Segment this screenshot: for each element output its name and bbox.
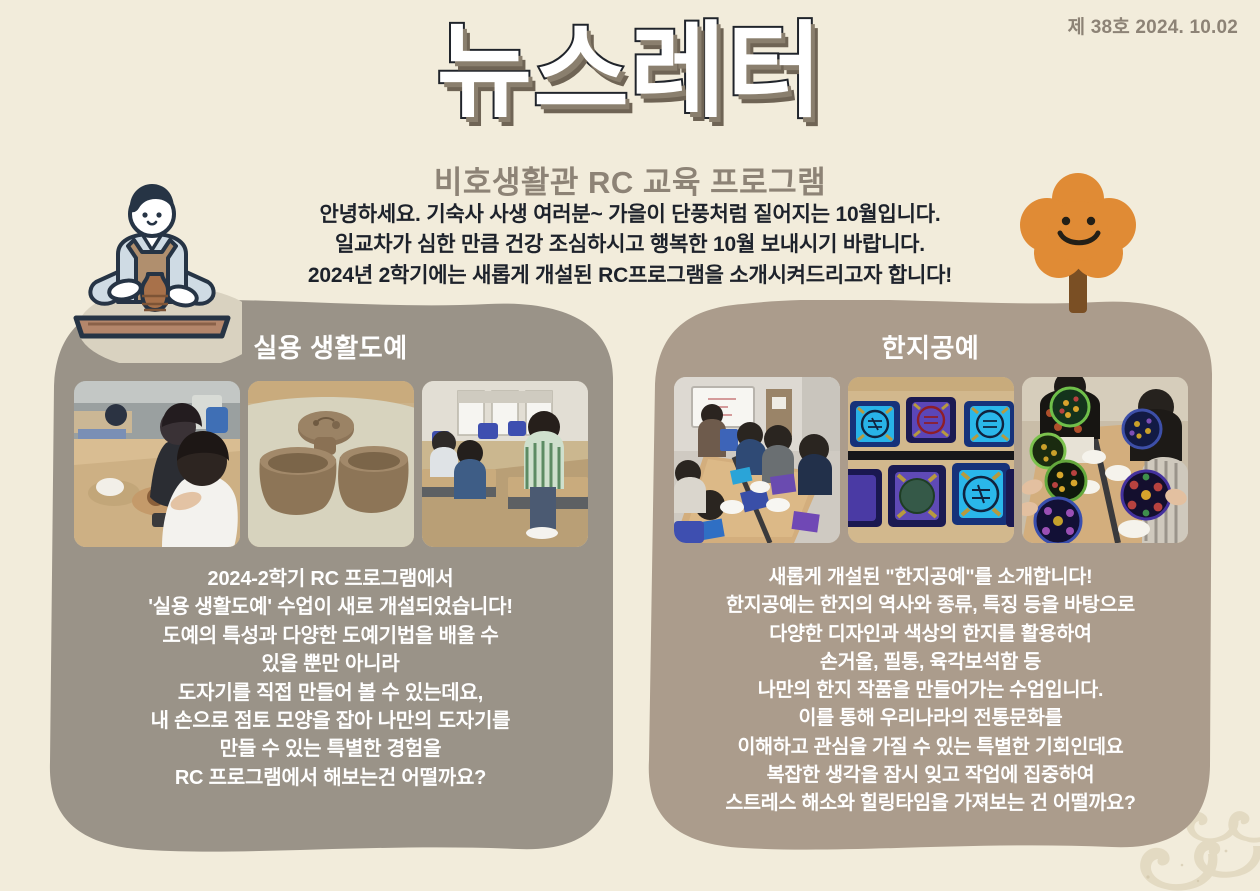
photo-finished-clay-bowls[interactable] <box>248 381 414 547</box>
photo-row-pottery <box>48 381 613 547</box>
intro-paragraph: 안녕하세요. 기숙사 사생 여러분~ 가을이 단풍처럼 짙어지는 10월입니다.… <box>0 200 1260 291</box>
card-body-pottery: 2024-2학기 RC 프로그램에서 '실용 생활도예' 수업이 새로 개설되었… <box>48 565 613 792</box>
photo-hanji-square-trays[interactable] <box>848 377 1014 543</box>
issue-date: 제 38호 2024. 10.02 <box>1068 12 1238 39</box>
pottery-line-6: 내 손으로 점토 모양을 잡아 나만의 도자기를 <box>62 707 599 735</box>
program-cards: 실용 생활도예 <box>0 300 1260 870</box>
pottery-line-1: 2024-2학기 RC 프로그램에서 <box>62 565 599 593</box>
subtitle: 비호생활관 RC 교육 프로그램 <box>0 157 1260 202</box>
hanji-line-9: 스트레스 해소와 힐링타임을 가져보는 건 어떨까요? <box>662 789 1199 817</box>
intro-line-3: 2024년 2학기에는 새롭게 개설된 RC프로그램을 소개시켜드리고자 합니다… <box>0 261 1260 291</box>
photo-row-hanji <box>648 377 1213 543</box>
hanji-line-2: 한지공예는 한지의 역사와 종류, 특징 등을 바탕으로 <box>662 591 1199 619</box>
intro-line-2: 일교차가 심한 만큼 건강 조심하시고 행복한 10월 보내시기 바랍니다. <box>0 230 1260 260</box>
photo-pottery-classroom[interactable] <box>422 381 588 547</box>
hanji-line-4: 손거울, 필통, 육각보석함 등 <box>662 648 1199 676</box>
hanji-line-8: 복잡한 생각을 잠시 잊고 작업에 집중하여 <box>662 761 1199 789</box>
program-card-hanji: 한지공예 <box>648 300 1213 852</box>
hanji-line-1: 새롭게 개설된 "한지공예"를 소개합니다! <box>662 563 1199 591</box>
card-title-hanji: 한지공예 <box>648 328 1213 365</box>
hanji-line-3: 다양한 디자인과 색상의 한지를 활용하여 <box>662 620 1199 648</box>
photo-hanji-hand-mirrors[interactable] <box>1022 377 1188 543</box>
pottery-line-3: 도예의 특성과 다양한 도예기법을 배울 수 <box>62 622 599 650</box>
pottery-line-4: 있을 뿐만 아니라 <box>62 650 599 678</box>
card-body-hanji: 새롭게 개설된 "한지공예"를 소개합니다! 한지공예는 한지의 역사와 종류,… <box>648 563 1213 817</box>
pottery-line-5: 도자기를 직접 만들어 볼 수 있는데요, <box>62 679 599 707</box>
page-title: 뉴스레터 <box>437 16 824 128</box>
photo-hanji-class-table[interactable] <box>674 377 840 543</box>
program-card-pottery: 실용 생활도예 <box>48 300 613 852</box>
hanji-line-6: 이를 통해 우리나라의 전통문화를 <box>662 704 1199 732</box>
photo-students-making-clay-pottery[interactable] <box>74 381 240 547</box>
pottery-line-7: 만들 수 있는 특별한 경험을 <box>62 735 599 763</box>
pottery-line-2: '실용 생활도예' 수업이 새로 개설되었습니다! <box>62 593 599 621</box>
intro-line-1: 안녕하세요. 기숙사 사생 여러분~ 가을이 단풍처럼 짙어지는 10월입니다. <box>0 200 1260 230</box>
hanji-line-5: 나만의 한지 작품을 만들어가는 수업입니다. <box>662 676 1199 704</box>
hanji-line-7: 이해하고 관심을 가질 수 있는 특별한 기회인데요 <box>662 733 1199 761</box>
pottery-line-8: RC 프로그램에서 해보는건 어떨까요? <box>62 764 599 792</box>
